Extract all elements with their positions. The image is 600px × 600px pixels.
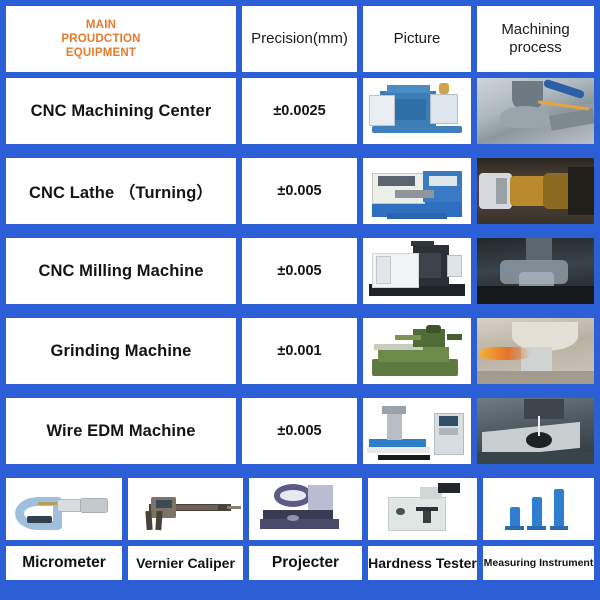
process-cell (477, 158, 594, 224)
process-cell (477, 318, 594, 384)
precision-value: ±0.005 (277, 263, 321, 279)
process-cell (477, 238, 594, 304)
table-row: Wire EDM Machine (6, 398, 236, 464)
instrument-image-cell (483, 478, 594, 540)
header-cell-picture: Picture (363, 6, 471, 72)
picture-cell (363, 318, 471, 384)
instrument-image-cell (368, 478, 477, 540)
header-equipment-line-2: PROUDCTION (36, 32, 166, 46)
precision-cell: ±0.0025 (242, 78, 357, 144)
grinding-machine-photo-icon (363, 318, 471, 384)
precision-cell: ±0.005 (242, 158, 357, 224)
vernier-caliper-photo-icon (128, 478, 243, 540)
instrument-label: Vernier Caliper (136, 555, 235, 571)
brass-turning-photo-icon (477, 158, 594, 224)
precision-value: ±0.005 (277, 183, 321, 199)
instrument-label-cell: Vernier Caliper (128, 546, 243, 580)
precision-value: ±0.005 (277, 423, 321, 439)
table-row: Grinding Machine (6, 318, 236, 384)
equipment-name: Wire EDM Machine (46, 422, 195, 441)
instrument-label-cell: Micrometer (6, 546, 122, 580)
wire-edm-machine-photo-icon (363, 398, 471, 464)
table-row: CNC Machining Center (6, 78, 236, 144)
header-cell-equipment: MAIN PROUDCTION EQUIPMENT (6, 6, 236, 72)
equipment-name: CNC Milling Machine (38, 262, 203, 281)
instrument-image-cell (249, 478, 362, 540)
process-cell (477, 78, 594, 144)
table-row: CNC Lathe （Turning） (6, 158, 236, 224)
equipment-capability-table: MAIN PROUDCTION EQUIPMENT Precision(mm) … (0, 0, 600, 600)
cnc-milling-machine-photo-icon (363, 238, 471, 304)
precision-cell: ±0.005 (242, 238, 357, 304)
instrument-image-cell (128, 478, 243, 540)
picture-cell (363, 238, 471, 304)
optical-projector-photo-icon (249, 478, 362, 540)
cnc-lathe-photo-icon (363, 158, 471, 224)
picture-cell (363, 398, 471, 464)
equipment-name: Grinding Machine (51, 342, 192, 361)
instrument-label-cell: Hardness Tester (368, 546, 477, 580)
precision-cell: ±0.005 (242, 398, 357, 464)
equipment-name: CNC Machining Center (31, 102, 212, 121)
grinding-sparks-photo-icon (477, 318, 594, 384)
micrometer-photo-icon (6, 478, 122, 540)
instrument-label: Micrometer (22, 554, 106, 572)
milling-with-coolant-photo-icon (477, 78, 594, 144)
table-row: CNC Milling Machine (6, 238, 236, 304)
precision-cell: ±0.001 (242, 318, 357, 384)
height-gauge-photo-icon (483, 478, 594, 540)
picture-cell (363, 158, 471, 224)
equipment-name: CNC Lathe （Turning） (29, 179, 213, 203)
process-cell (477, 398, 594, 464)
hardness-tester-photo-icon (368, 478, 477, 540)
picture-cell (363, 78, 471, 144)
header-picture-label: Picture (394, 30, 441, 48)
milling-chips-photo-icon (477, 238, 594, 304)
header-cell-process: Machining process (477, 6, 594, 72)
header-equipment-line-1: MAIN (36, 18, 166, 32)
instrument-label: Measuring Instrument (484, 557, 594, 569)
header-process-label: Machining process (477, 21, 594, 57)
instrument-label: Projecter (272, 554, 339, 572)
instrument-label-cell: Measuring Instrument (483, 546, 594, 580)
precision-value: ±0.0025 (273, 103, 325, 119)
instrument-label-cell: Projecter (249, 546, 362, 580)
precision-value: ±0.001 (277, 343, 321, 359)
instrument-image-cell (6, 478, 122, 540)
cnc-machining-center-photo-icon (363, 78, 471, 144)
header-equipment-line-3: EQUIPMENT (36, 46, 166, 60)
header-cell-precision: Precision(mm) (242, 6, 357, 72)
instrument-label: Hardness Tester (368, 555, 477, 571)
wire-edm-cutting-photo-icon (477, 398, 594, 464)
table-grid: MAIN PROUDCTION EQUIPMENT Precision(mm) … (6, 6, 594, 594)
header-precision-label: Precision(mm) (251, 30, 348, 48)
